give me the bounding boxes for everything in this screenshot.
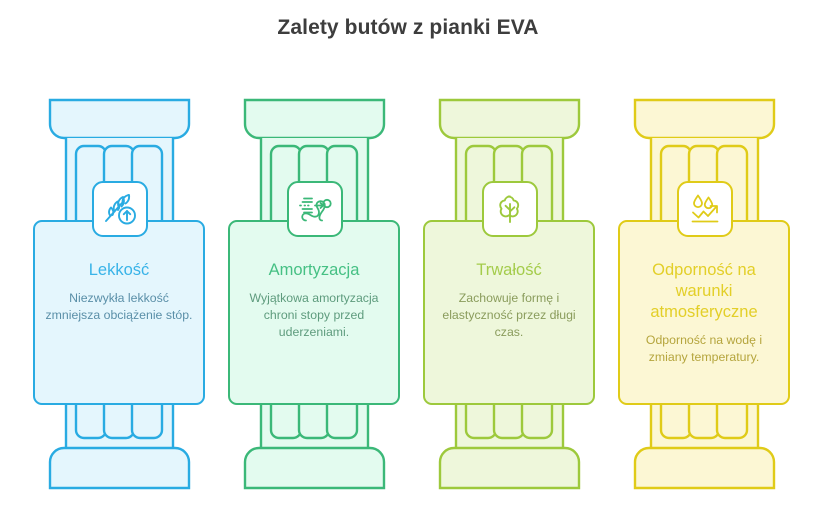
card-description: Wyjątkowa amortyzacja chroni stopy przed… (239, 290, 389, 341)
shock-absorption-wave-icon (287, 181, 343, 237)
pillar-column-trwalosc: Trwałość Zachowuje formę i elastyczność … (412, 88, 607, 508)
pillar-base (245, 448, 384, 488)
card-description: Niezwykła lekkość zmniejsza obciążenie s… (44, 290, 194, 324)
feature-card-trwalosc: Trwałość Zachowuje formę i elastyczność … (423, 220, 595, 405)
feather-arrow-up-icon (92, 181, 148, 237)
pillar-capital (635, 100, 774, 138)
pillar-column-odpornosc: Odporność na warunki atmosferyczne Odpor… (607, 88, 802, 508)
pillar-base (50, 448, 189, 488)
pillar-column-lekkosc: Lekkość Niezwykła lekkość zmniejsza obci… (22, 88, 217, 508)
card-title: Trwałość (434, 260, 584, 281)
card-title: Odporność na warunki atmosferyczne (629, 260, 779, 323)
card-description: Zachowuje formę i elastyczność przez dłu… (434, 290, 584, 341)
card-title: Amortyzacja (239, 260, 389, 281)
pillar-column-amortyzacja: Amortyzacja Wyjątkowa amortyzacja chroni… (217, 88, 412, 508)
feature-card-odpornosc: Odporność na warunki atmosferyczne Odpor… (618, 220, 790, 405)
water-drops-arrow-icon (677, 181, 733, 237)
pillar-capital (245, 100, 384, 138)
tree-icon (482, 181, 538, 237)
feature-card-amortyzacja: Amortyzacja Wyjątkowa amortyzacja chroni… (228, 220, 400, 405)
infographic-root: Zalety butów z pianki EVA (0, 0, 816, 528)
pillar-capital (50, 100, 189, 138)
card-title: Lekkość (44, 260, 194, 281)
pillar-capital (440, 100, 579, 138)
card-description: Odporność na wodę i zmiany temperatury. (629, 332, 779, 366)
pillar-base (440, 448, 579, 488)
feature-card-lekkosc: Lekkość Niezwykła lekkość zmniejsza obci… (33, 220, 205, 405)
page-title: Zalety butów z pianki EVA (0, 16, 816, 40)
pillar-base (635, 448, 774, 488)
